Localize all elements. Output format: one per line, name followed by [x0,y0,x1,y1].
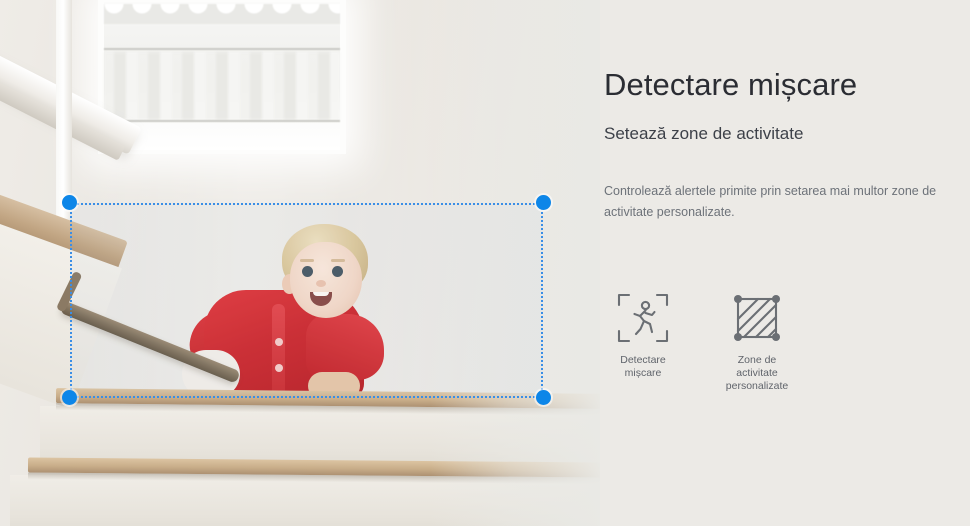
window-frame-line-bottom [104,120,340,122]
window-curtain [104,52,340,120]
feature-custom-zones: Zone de activitate personalizate [718,290,796,393]
window-frame-line-top [104,48,340,50]
activity-zone-rectangle[interactable] [70,203,543,398]
feature-list: Detectare mișcare Zone de activitate per… [604,290,964,393]
page-subtitle: Setează zone de activitate [604,122,803,146]
zone-handle-top-left[interactable] [62,195,77,210]
custom-activity-zone-icon [729,290,785,346]
page-description: Controlează alertele primite prin setare… [604,181,954,223]
feature-label: Detectare mișcare [620,354,666,380]
window-valance [104,4,340,24]
page-title: Detectare mișcare [604,66,857,104]
motion-detection-icon [615,290,671,346]
info-panel: Detectare mișcare Setează zone de activi… [604,0,970,526]
zone-handle-bottom-right[interactable] [536,390,551,405]
feature-label: Zone de activitate personalizate [726,354,788,393]
zone-handle-top-right[interactable] [536,195,551,210]
feature-motion-detection: Detectare mișcare [604,290,682,393]
zone-handle-bottom-left[interactable] [62,390,77,405]
screenshot-stage: Detectare mișcare Setează zone de activi… [0,0,970,526]
